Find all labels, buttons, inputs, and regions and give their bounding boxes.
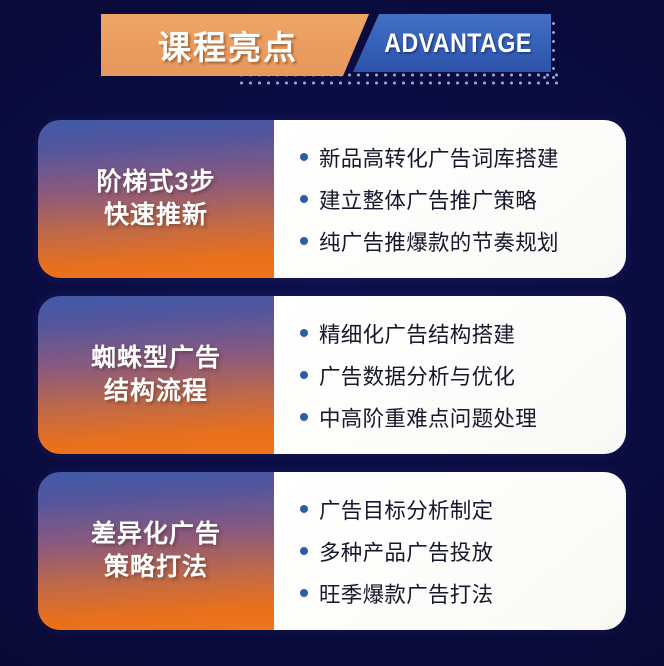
feature-card[interactable]: 差异化广告 策略打法 广告目标分析制定 多种产品广告投放 旺季爆款广告打法 — [38, 472, 626, 630]
bullet-label: 多种产品广告投放 — [319, 536, 493, 567]
bullet-label: 新品高转化广告词库搭建 — [319, 142, 559, 173]
list-item: 纯广告推爆款的节奏规划 — [300, 226, 626, 257]
list-item: 广告数据分析与优化 — [300, 360, 626, 391]
card-title: 阶梯式3步 快速推新 — [97, 166, 216, 232]
list-item: 建立整体广告推广策略 — [300, 184, 626, 215]
card-bullet-panel: 精细化广告结构搭建 广告数据分析与优化 中高阶重难点问题处理 — [274, 296, 626, 454]
header-banner: 课程亮点 ADVANTAGE — [0, 14, 664, 76]
card-title-panel: 阶梯式3步 快速推新 — [38, 120, 274, 278]
bullet-dot-icon — [300, 371, 308, 379]
header-banner-inner: 课程亮点 ADVANTAGE — [101, 14, 561, 76]
bullet-dot-icon — [300, 589, 308, 597]
bullet-dot-icon — [300, 547, 308, 555]
list-item: 中高阶重难点问题处理 — [300, 402, 626, 433]
bullet-dot-icon — [300, 413, 308, 421]
header-title-english: ADVANTAGE — [367, 14, 537, 72]
list-item: 多种产品广告投放 — [300, 536, 626, 567]
bullet-label: 中高阶重难点问题处理 — [319, 402, 537, 433]
card-title-panel: 蜘蛛型广告 结构流程 — [38, 296, 274, 454]
bullet-dot-icon — [300, 237, 308, 245]
card-title: 差异化广告 策略打法 — [91, 518, 221, 584]
bullet-label: 精细化广告结构搭建 — [319, 318, 515, 349]
bullet-label: 旺季爆款广告打法 — [319, 578, 493, 609]
card-title-panel: 差异化广告 策略打法 — [38, 472, 274, 630]
card-bullet-panel: 新品高转化广告词库搭建 建立整体广告推广策略 纯广告推爆款的节奏规划 — [274, 120, 626, 278]
bullet-dot-icon — [300, 329, 308, 337]
list-item: 新品高转化广告词库搭建 — [300, 142, 626, 173]
bullet-label: 广告目标分析制定 — [319, 494, 493, 525]
list-item: 精细化广告结构搭建 — [300, 318, 626, 349]
card-title: 蜘蛛型广告 结构流程 — [91, 342, 221, 408]
bullet-dot-icon — [300, 153, 308, 161]
bullet-label: 广告数据分析与优化 — [319, 360, 515, 391]
feature-card-list: 阶梯式3步 快速推新 新品高转化广告词库搭建 建立整体广告推广策略 纯广告推爆款… — [38, 120, 626, 648]
card-bullet-panel: 广告目标分析制定 多种产品广告投放 旺季爆款广告打法 — [274, 472, 626, 630]
header-title-chinese: 课程亮点 — [117, 21, 339, 69]
feature-card[interactable]: 蜘蛛型广告 结构流程 精细化广告结构搭建 广告数据分析与优化 中高阶重难点问题处… — [38, 296, 626, 454]
bullet-label: 建立整体广告推广策略 — [319, 184, 537, 215]
feature-card[interactable]: 阶梯式3步 快速推新 新品高转化广告词库搭建 建立整体广告推广策略 纯广告推爆款… — [38, 120, 626, 278]
list-item: 广告目标分析制定 — [300, 494, 626, 525]
bullet-label: 纯广告推爆款的节奏规划 — [319, 226, 559, 257]
bullet-dot-icon — [300, 505, 308, 513]
list-item: 旺季爆款广告打法 — [300, 578, 626, 609]
bullet-dot-icon — [300, 195, 308, 203]
